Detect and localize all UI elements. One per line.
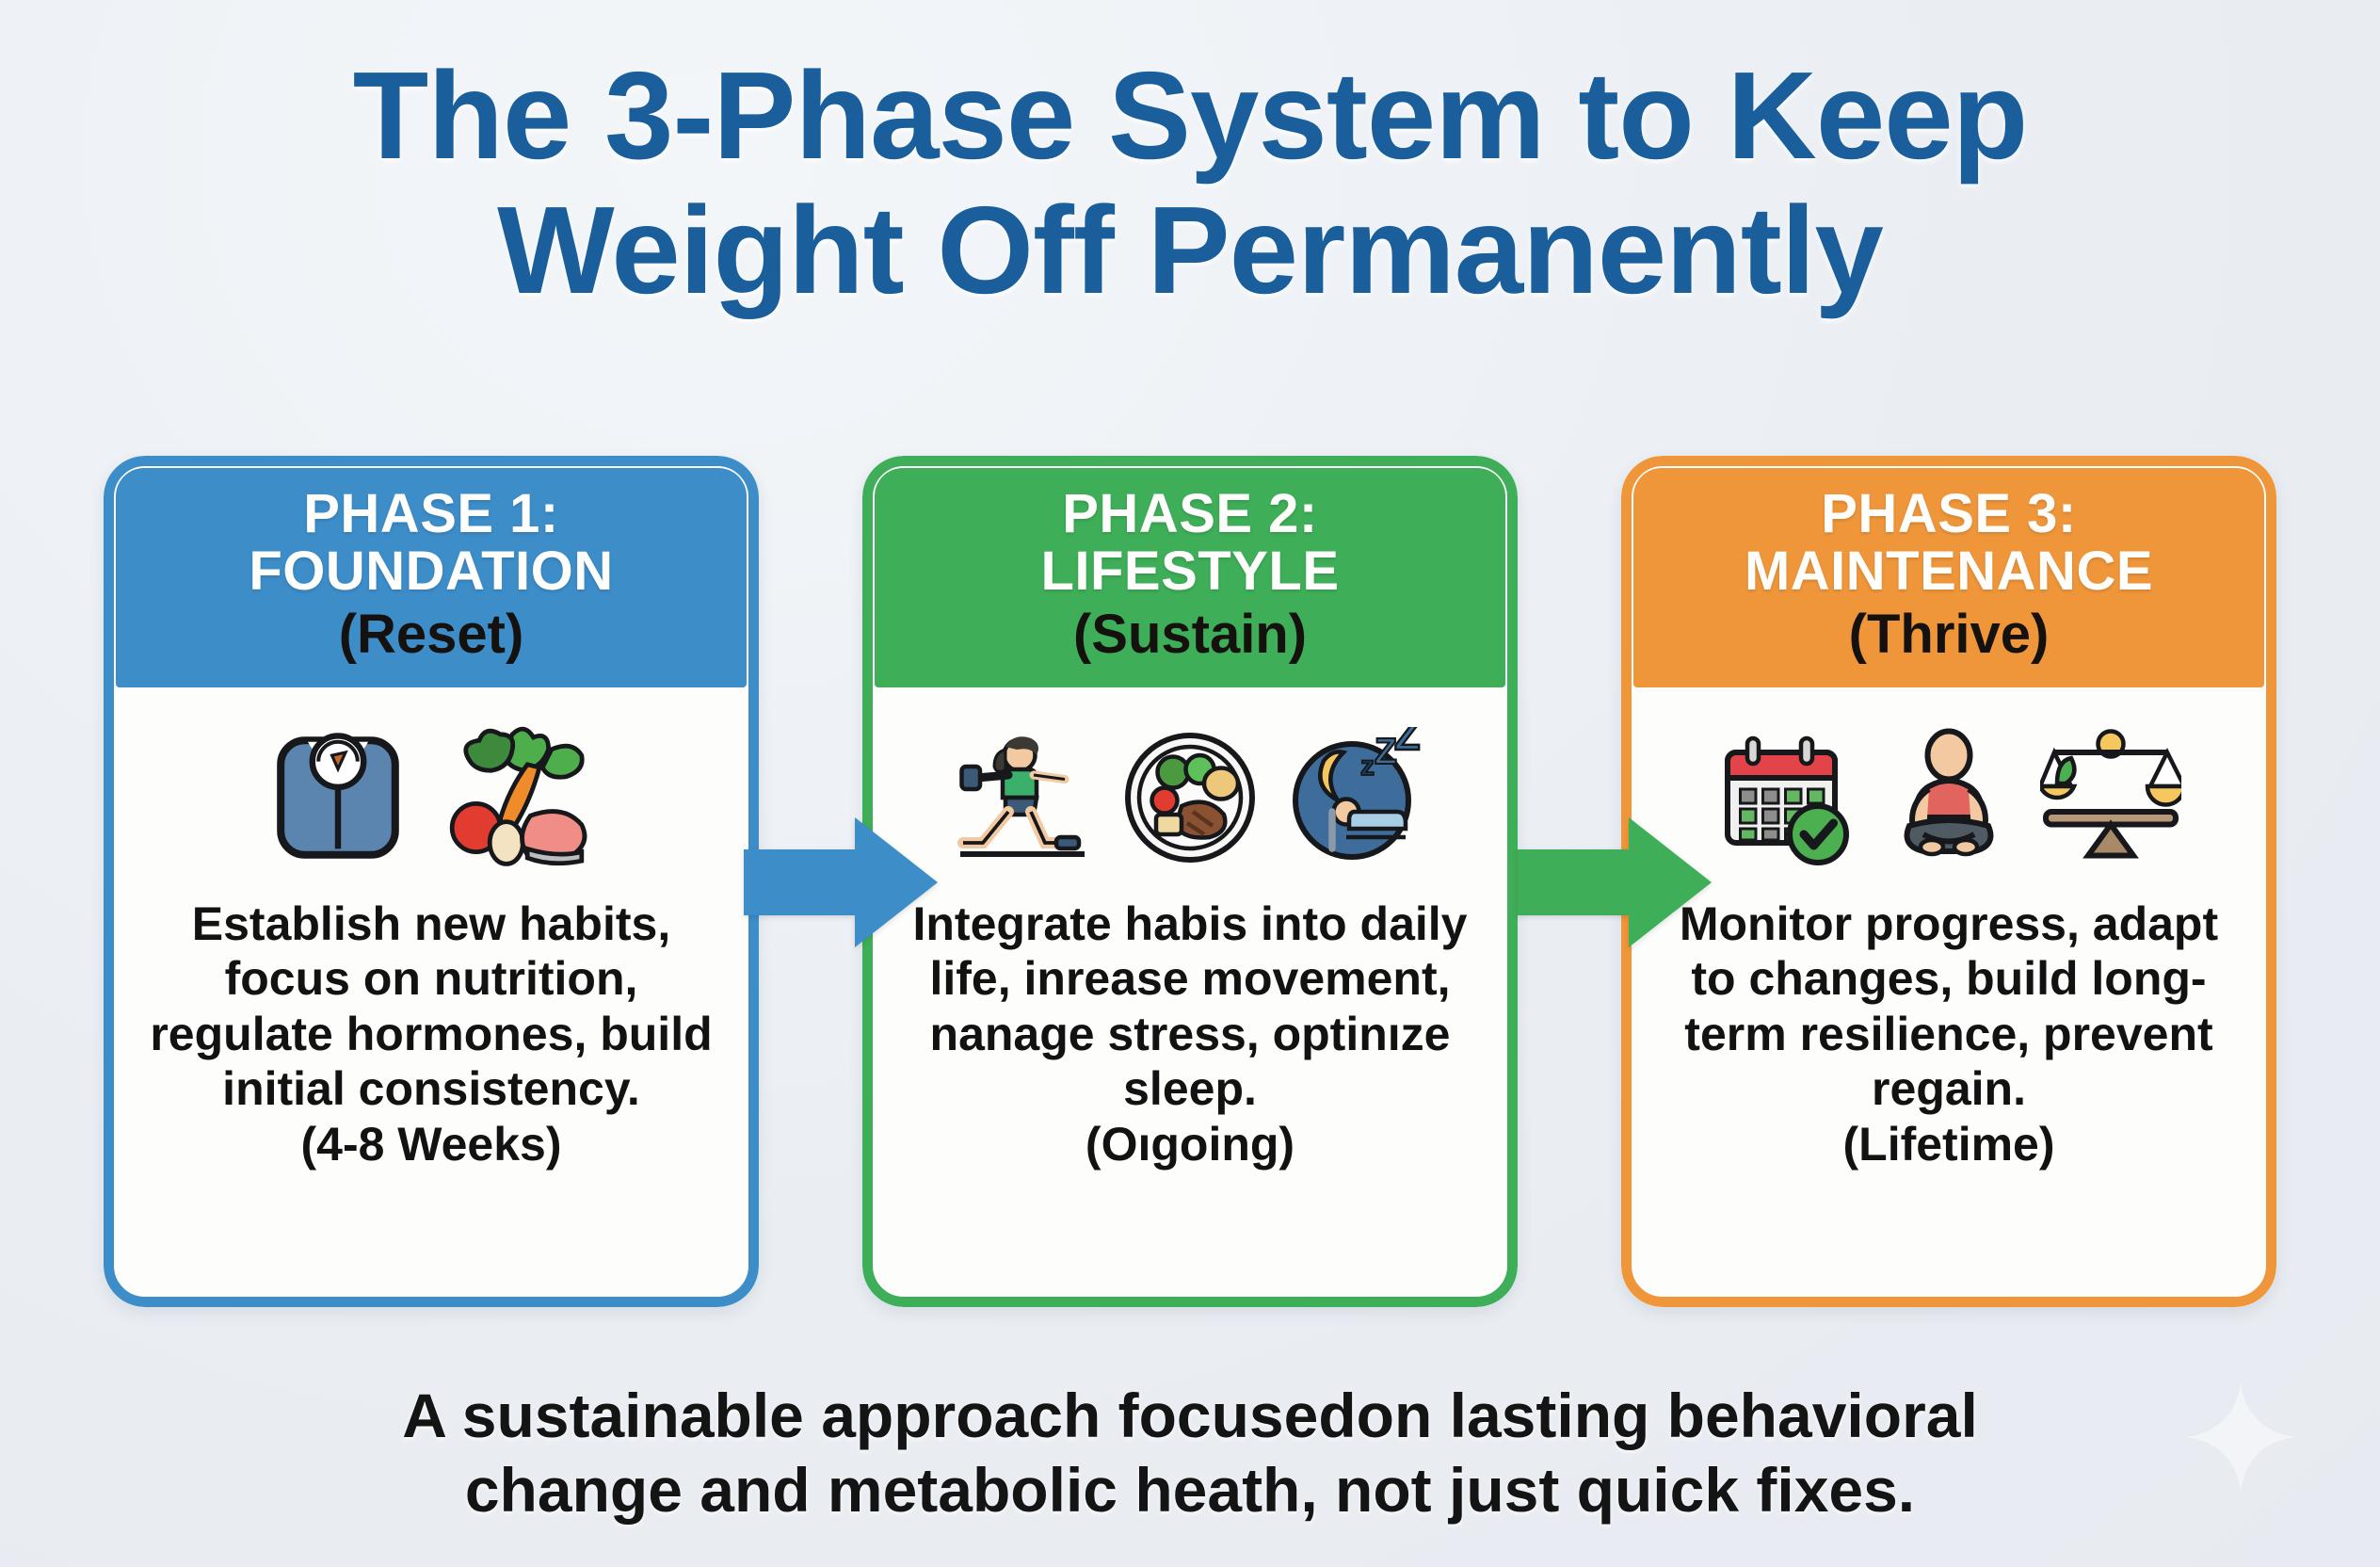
phase-3-name: MAINTENANCE: [1654, 542, 2243, 600]
vegetables-and-salmon-icon: [434, 722, 600, 873]
footer-caption-line-1: A sustainable approach focusedon lasting…: [282, 1379, 2098, 1453]
phase-1-duration: (4-8 Weeks): [136, 1117, 727, 1172]
page-title-line-2: Weight Off Permanently: [0, 184, 2380, 318]
phase-1-body-text: Establish new habits, focus on nutrition…: [150, 897, 712, 1116]
phase-card-3[interactable]: PHASE 3: MAINTENANCE (Thrive): [1621, 456, 2276, 1307]
exercising-woman-icon: [957, 727, 1099, 868]
phase-3-body-text: Monitor progress, adapt to changes, buil…: [1680, 897, 2218, 1116]
four-point-sparkle-icon: [2184, 1381, 2297, 1494]
balanced-meal-plate-icon: [1119, 727, 1261, 868]
phase-2-body-text: Integrate habis into daily life, inrease…: [913, 897, 1468, 1116]
arrow-phase2-to-phase3: [1518, 812, 1712, 953]
phase-card-1[interactable]: PHASE 1: FOUNDATION (Reset): [104, 456, 759, 1307]
arrow-phase1-to-phase2: [744, 812, 938, 953]
meditating-person-icon: [1878, 727, 2019, 868]
phase-3-icons: [1621, 687, 2276, 891]
footer-caption: A sustainable approach focusedon lasting…: [282, 1379, 2098, 1527]
phase-3-duration: (Lifetime): [1653, 1117, 2244, 1172]
svg-text:Z: Z: [1394, 727, 1421, 759]
footer-caption-line-2: change and metabolic heath, not just qui…: [282, 1453, 2098, 1527]
phase-1-name: FOUNDATION: [137, 542, 726, 600]
phase-1-header: PHASE 1: FOUNDATION (Reset): [116, 468, 747, 687]
svg-text:z: z: [1360, 751, 1375, 782]
balance-scale-icon: [2040, 727, 2181, 868]
phase-cards-row: PHASE 1: FOUNDATION (Reset): [104, 456, 2276, 1307]
page-title: The 3-Phase System to Keep Weight Off Pe…: [0, 49, 2380, 317]
phase-1-subtitle: (Reset): [137, 605, 726, 665]
phase-2-duration: (Oıgoing): [894, 1117, 1486, 1172]
bathroom-scale-icon: [263, 722, 413, 873]
phase-1-description: Establish new habits, focus on nutrition…: [104, 891, 759, 1307]
phase-3-header: PHASE 3: MAINTENANCE (Thrive): [1633, 468, 2264, 687]
page-title-line-1: The 3-Phase System to Keep: [0, 49, 2380, 184]
phase-1-icons: [104, 687, 759, 891]
calendar-check-icon: [1716, 727, 1857, 868]
sleep-moon-zzz-icon: z Z Z: [1281, 727, 1423, 868]
phase-3-title: PHASE 3:: [1654, 485, 2243, 542]
phase-2-name: LIFESTYLE: [895, 542, 1485, 600]
phase-2-icons: z Z Z: [862, 687, 1518, 891]
phase-2-header: PHASE 2: LIFESTYLE (Sustain): [875, 468, 1505, 687]
phase-1-title: PHASE 1:: [137, 485, 726, 542]
infographic-canvas: The 3-Phase System to Keep Weight Off Pe…: [0, 0, 2380, 1567]
phase-card-2[interactable]: PHASE 2: LIFESTYLE (Sustain): [862, 456, 1518, 1307]
phase-2-subtitle: (Sustain): [895, 605, 1485, 665]
phase-3-description: Monitor progress, adapt to changes, buil…: [1621, 891, 2276, 1307]
phase-2-title: PHASE 2:: [895, 485, 1485, 542]
phase-3-subtitle: (Thrive): [1654, 605, 2243, 665]
phase-2-description: Integrate habis into daily life, inrease…: [862, 891, 1518, 1307]
